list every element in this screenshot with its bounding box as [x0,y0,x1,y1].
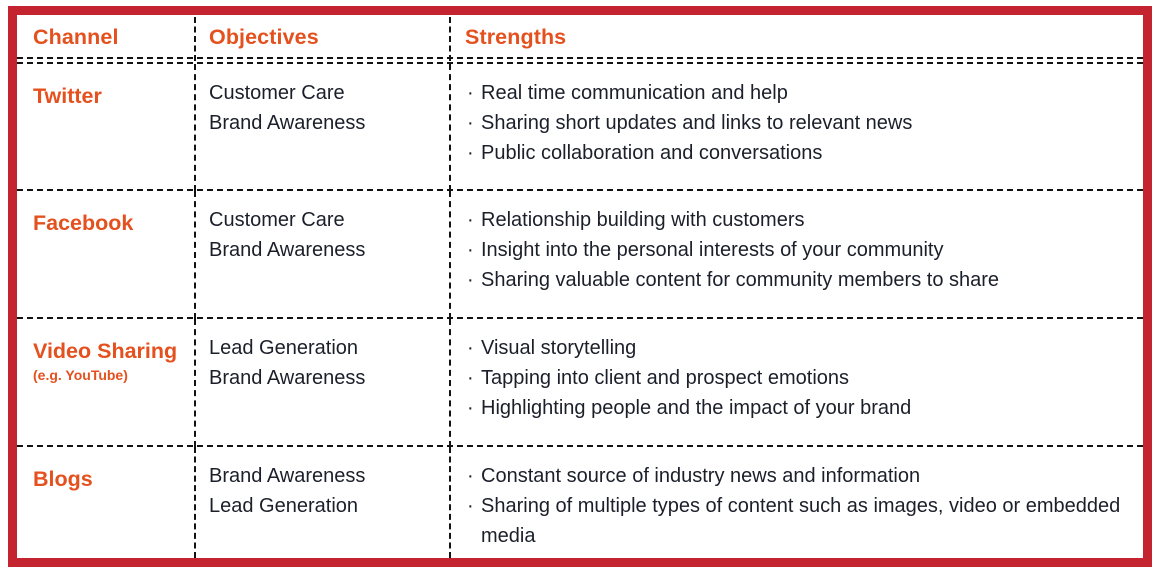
objective-item: Brand Awareness [209,461,365,491]
objectives-list: Lead Generation Brand Awareness [209,333,365,393]
bullet-icon: · [467,333,474,363]
strength-item: ·Sharing valuable content for community … [467,265,1133,295]
channel-name: Facebook [33,212,133,235]
bullet-icon: · [467,363,474,393]
objectives-list: Customer Care Brand Awareness [209,205,365,265]
strength-item: ·Public collaboration and conversations [467,138,1133,168]
bullet-icon: · [467,108,474,138]
strengths-list: ·Real time communication and help ·Shari… [467,78,1133,168]
column-divider-2 [449,191,451,319]
header-separator [17,57,1143,64]
header-cell-objectives: Objectives [209,15,444,61]
strength-item: ·Highlighting people and the impact of y… [467,393,1133,423]
column-divider-2 [449,319,451,447]
objective-item: Brand Awareness [209,235,365,265]
strength-item: ·Constant source of industry news and in… [467,461,1133,491]
strength-text: Public collaboration and conversations [481,142,822,164]
strength-text: Sharing short updates and links to relev… [481,112,912,134]
strength-text: Insight into the personal interests of y… [481,239,943,261]
column-header-channel: Channel [33,27,119,49]
objectives-list: Customer Care Brand Awareness [209,78,365,138]
column-divider-1 [194,191,196,319]
objective-item: Customer Care [209,205,365,235]
channel-name: Video Sharing [33,340,177,363]
table-header-row: Channel Objectives Strengths [17,15,1143,61]
strength-item: ·Sharing short updates and links to rele… [467,108,1133,138]
table-row: Blogs Brand Awareness Lead Generation ·C… [17,447,1143,558]
bullet-icon: · [467,78,474,108]
bullet-icon: · [467,491,474,521]
strength-item: ·Relationship building with customers [467,205,1133,235]
bullet-icon: · [467,393,474,423]
strengths-list: ·Relationship building with customers ·I… [467,205,1133,295]
channel-strategy-table: Channel Objectives Strengths Twitter Cus… [17,15,1143,558]
bullet-icon: · [467,138,474,168]
column-divider-1 [194,319,196,447]
objective-item: Customer Care [209,78,365,108]
header-separator-line-top [17,57,1143,59]
table-row: Twitter Customer Care Brand Awareness ·R… [17,64,1143,191]
strength-item: ·Tapping into client and prospect emotio… [467,363,1133,393]
column-divider-2 [449,17,451,61]
channel-name: Twitter [33,85,102,108]
objective-item: Brand Awareness [209,363,365,393]
objective-item: Lead Generation [209,333,365,363]
column-divider-1 [194,447,196,558]
strength-text: Sharing of multiple types of content suc… [481,495,1120,547]
header-cell-channel: Channel [33,15,191,61]
table-frame: Channel Objectives Strengths Twitter Cus… [8,6,1152,567]
objective-item: Brand Awareness [209,108,365,138]
strength-text: Highlighting people and the impact of yo… [481,397,911,419]
strength-text: Sharing valuable content for community m… [481,269,999,291]
strength-item: ·Visual storytelling [467,333,1133,363]
strength-text: Real time communication and help [481,82,788,104]
table-row: Facebook Customer Care Brand Awareness ·… [17,191,1143,319]
strength-item: ·Insight into the personal interests of … [467,235,1133,265]
strengths-list: ·Visual storytelling ·Tapping into clien… [467,333,1133,423]
strength-text: Visual storytelling [481,337,636,359]
channel-name-subtitle: (e.g. YouTube) [33,368,128,383]
channel-name: Blogs [33,468,93,491]
table-row: Video Sharing (e.g. YouTube) Lead Genera… [17,319,1143,447]
column-header-objectives: Objectives [209,27,319,49]
strength-item: ·Sharing of multiple types of content su… [467,491,1133,551]
bullet-icon: · [467,461,474,491]
column-divider-2 [449,447,451,558]
column-divider-1 [194,17,196,61]
strength-text: Tapping into client and prospect emotion… [481,367,849,389]
bullet-icon: · [467,265,474,295]
header-cell-strengths: Strengths [465,15,1137,61]
column-divider-2 [449,64,451,191]
objectives-list: Brand Awareness Lead Generation [209,461,365,521]
bullet-icon: · [467,205,474,235]
objective-item: Lead Generation [209,491,365,521]
strength-text: Relationship building with customers [481,209,805,231]
strength-item: ·Real time communication and help [467,78,1133,108]
bullet-icon: · [467,235,474,265]
strength-text: Constant source of industry news and inf… [481,465,920,487]
column-header-strengths: Strengths [465,27,566,49]
strengths-list: ·Constant source of industry news and in… [467,461,1133,551]
column-divider-1 [194,64,196,191]
